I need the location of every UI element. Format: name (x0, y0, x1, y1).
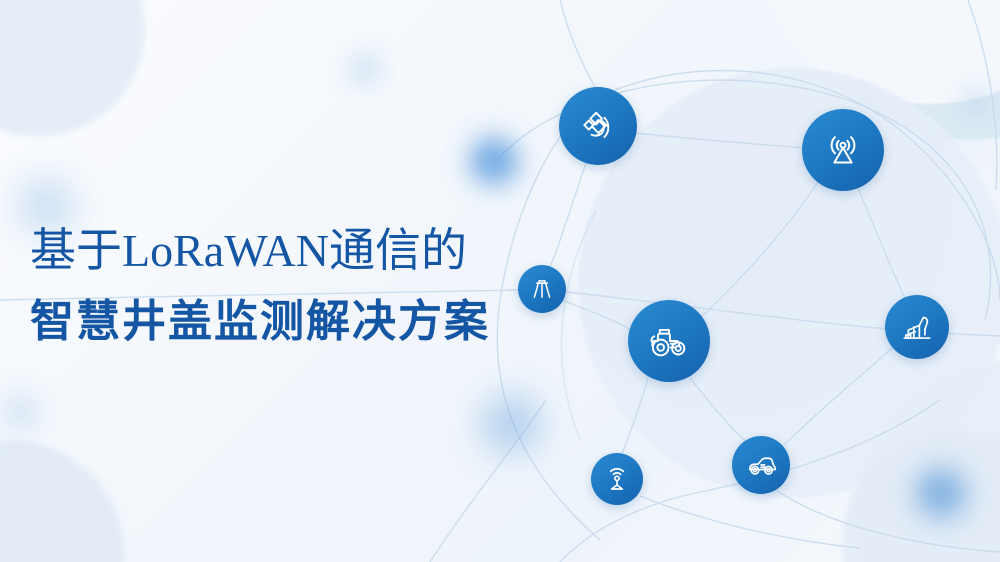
title-line-primary: 基于LoRaWAN通信的 (30, 228, 590, 274)
tractor-icon (645, 317, 693, 365)
robot-mower-icon (743, 447, 779, 483)
wireless-sensor-icon (601, 463, 633, 495)
node-robot-mower[interactable] (732, 436, 790, 494)
slide-title: 基于LoRaWAN通信的 智慧井盖监测解决方案 (30, 228, 590, 344)
bokeh-dot-accent-lower (916, 468, 966, 518)
node-radio-tower[interactable] (802, 109, 884, 191)
title-line-secondary: 智慧井盖监测解决方案 (30, 300, 590, 344)
node-wireless-sensor[interactable] (591, 453, 643, 505)
node-tractor[interactable] (628, 300, 710, 382)
satellite-signal-icon (576, 104, 620, 148)
bokeh-dot-accent-upper (470, 137, 518, 185)
radio-tower-icon (820, 127, 866, 173)
bokeh-dot-accent-center (482, 395, 540, 453)
presentation-slide: 基于LoRaWAN通信的 智慧井盖监测解决方案 (0, 0, 1000, 562)
oil-pumpjack-icon (898, 308, 936, 346)
node-satellite[interactable] (559, 87, 637, 165)
node-oil-pumpjack[interactable] (885, 295, 949, 359)
